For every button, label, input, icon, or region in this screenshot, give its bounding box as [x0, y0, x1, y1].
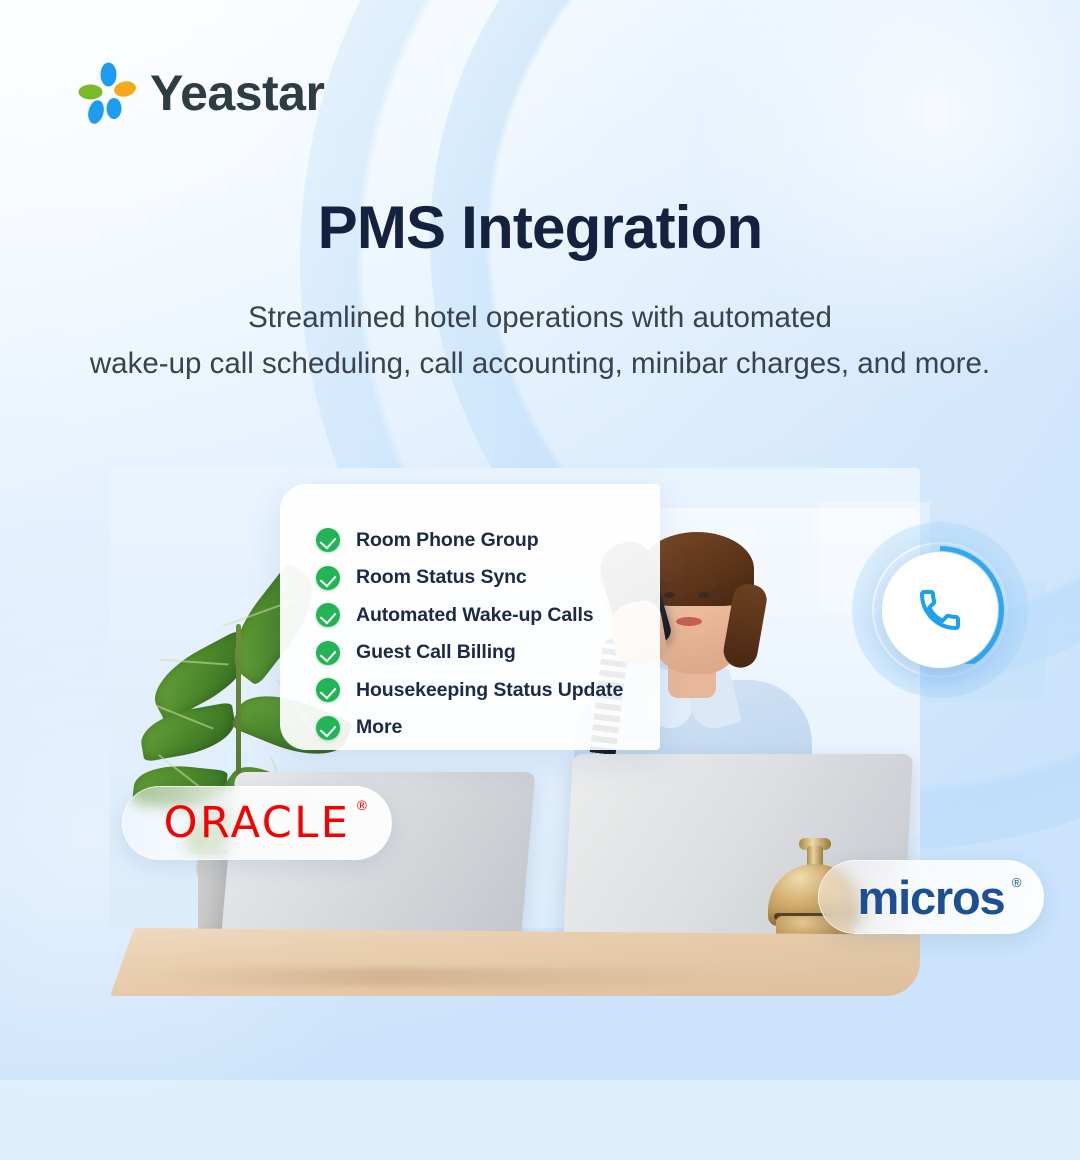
feature-item: Guest Call Billing	[316, 637, 660, 669]
feature-item: Room Phone Group	[316, 524, 660, 556]
subtitle-line-2: wake-up call scheduling, call accounting…	[0, 341, 1080, 388]
phone-handset-icon	[882, 552, 998, 668]
oracle-trademark: ®	[355, 800, 368, 813]
feature-label: Automated Wake-up Calls	[356, 604, 594, 627]
feature-item: More	[316, 712, 660, 744]
receptionist-eye	[664, 592, 675, 598]
check-circle-icon	[316, 641, 340, 665]
partner-badge-oracle: ORACLE®	[122, 786, 392, 860]
wooden-desk	[110, 928, 920, 996]
desk-grain	[159, 968, 726, 986]
check-circle-icon	[316, 528, 340, 552]
features-card: Room Phone Group Room Status Sync Automa…	[280, 484, 660, 750]
micros-wordmark: micros	[858, 871, 1005, 924]
feature-label: Room Phone Group	[356, 529, 539, 552]
subtitle-line-1: Streamlined hotel operations with automa…	[0, 295, 1080, 342]
headline-block: PMS Integration Streamlined hotel operat…	[0, 196, 1080, 388]
feature-item: Room Status Sync	[316, 562, 660, 594]
brand-wordmark: Yeastar	[150, 68, 324, 118]
receptionist-lips	[676, 617, 702, 626]
yeastar-petal-mark-icon	[78, 62, 136, 124]
page-subtitle: Streamlined hotel operations with automa…	[0, 295, 1080, 388]
micros-trademark: ®	[1012, 876, 1022, 889]
feature-label: More	[356, 716, 402, 739]
check-circle-icon	[316, 603, 340, 627]
check-circle-icon	[316, 716, 340, 740]
feature-item: Automated Wake-up Calls	[316, 599, 660, 631]
feature-item: Housekeeping Status Update	[316, 674, 660, 706]
check-circle-icon	[316, 678, 340, 702]
feature-label: Guest Call Billing	[356, 641, 516, 664]
phone-badge	[852, 522, 1028, 698]
brand-logo[interactable]: Yeastar	[78, 62, 324, 124]
feature-label: Housekeeping Status Update	[356, 679, 623, 702]
oracle-wordmark: ORACLE	[164, 798, 351, 848]
partner-badge-micros: micros®	[818, 860, 1044, 934]
receptionist-eye	[698, 592, 709, 598]
check-circle-icon	[316, 566, 340, 590]
oracle-logo: ORACLE®	[164, 802, 351, 845]
feature-label: Room Status Sync	[356, 566, 527, 589]
page-title: PMS Integration	[0, 196, 1080, 261]
micros-logo: micros®	[858, 874, 1005, 921]
